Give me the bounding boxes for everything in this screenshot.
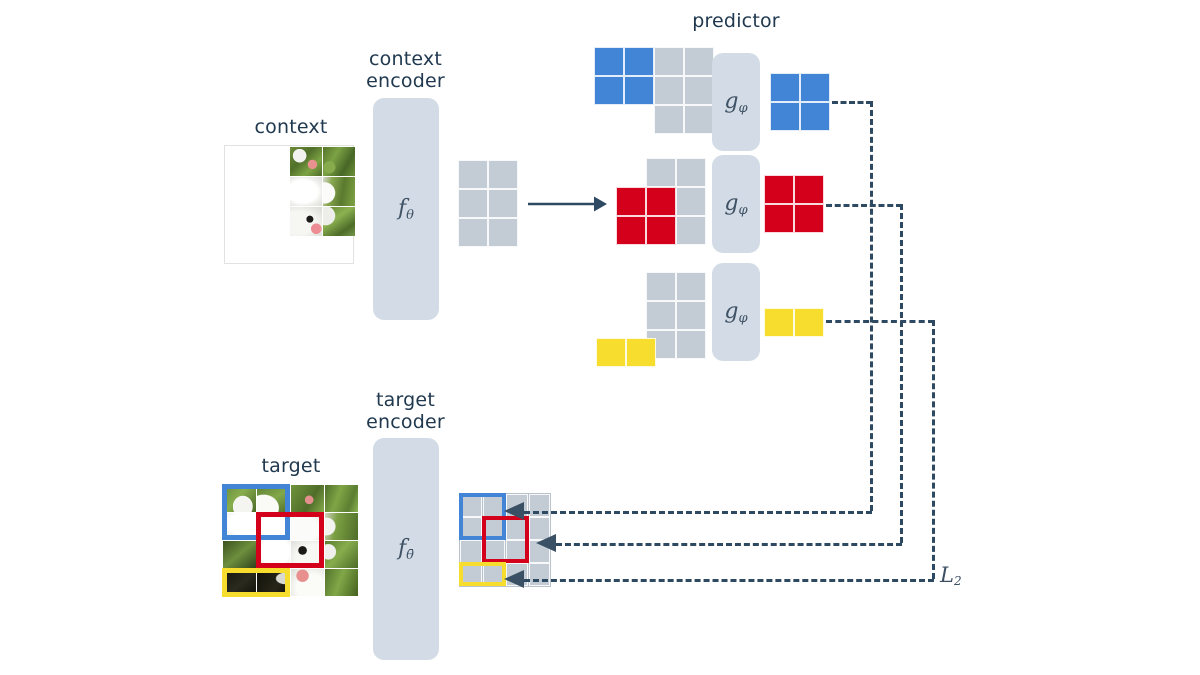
- blue-context-token: [594, 76, 624, 105]
- mask-token: [646, 158, 676, 187]
- context-image: [224, 145, 354, 264]
- target-patch: [223, 541, 256, 568]
- yellow-target-box: [222, 568, 290, 597]
- predictor-red-glyph: gφ: [724, 191, 747, 218]
- mask-token: [646, 272, 676, 301]
- blue-context-token: [624, 76, 654, 105]
- predictor-input-yellow: [596, 272, 706, 362]
- mask-token: [676, 301, 706, 330]
- predicted-yellow-block: [764, 308, 824, 337]
- mask-token: [676, 187, 706, 216]
- predictor-yellow-glyph: gφ: [724, 299, 747, 326]
- red-loss-path-bottom: [556, 543, 902, 546]
- context-token: [488, 189, 518, 218]
- yellow-context-token: [596, 338, 626, 367]
- blue-loss-path-top: [832, 101, 872, 104]
- predictor-blue-glyph: gφ: [724, 89, 747, 116]
- mask-token: [684, 47, 714, 76]
- yellow-context-token: [626, 338, 656, 367]
- red-context-token: [616, 187, 646, 216]
- context-token: [488, 160, 518, 189]
- yellow-loss-arrowhead: [504, 570, 526, 588]
- context-token: [488, 218, 518, 247]
- diagram-canvas: predictor context context encoder target…: [0, 0, 1200, 675]
- predicted-token: [764, 204, 794, 233]
- predicted-token: [800, 73, 830, 102]
- predictor-red[interactable]: gφ: [712, 155, 760, 253]
- loss-subscript: 2: [954, 574, 962, 588]
- context-encoder[interactable]: fθ: [373, 98, 439, 320]
- context-encoder-label: context encoder: [333, 48, 478, 92]
- predictor-yellow[interactable]: gφ: [712, 263, 760, 361]
- predicted-token: [770, 73, 800, 102]
- blue-loss-arrowhead: [504, 502, 526, 520]
- mask-token: [676, 330, 706, 359]
- yellow-loss-path-vertical: [932, 320, 935, 579]
- yellow-loss-path-bottom: [524, 579, 934, 582]
- predictor-input-blue: [594, 47, 714, 137]
- mask-token: [684, 76, 714, 105]
- context-token-grid: [458, 160, 518, 248]
- target-encoder-glyph: fθ̄: [398, 536, 414, 563]
- red-context-token: [646, 216, 676, 245]
- yellow-loss-path-top: [826, 320, 934, 323]
- context-label: context: [211, 116, 371, 138]
- predicted-red-block: [764, 175, 824, 233]
- target-label: target: [211, 455, 371, 477]
- target-token: [529, 563, 550, 586]
- context-patch: [290, 207, 322, 236]
- predicted-token: [770, 102, 800, 131]
- yellow-target-token-box: [459, 562, 506, 586]
- target-patch: [325, 541, 358, 568]
- context-token: [458, 189, 488, 218]
- loss-symbol: L: [940, 563, 954, 587]
- mask-token: [684, 105, 714, 134]
- loss-label: L2: [940, 563, 1000, 588]
- predicted-token: [800, 102, 830, 131]
- blue-loss-path-vertical: [870, 101, 873, 511]
- red-context-token: [616, 216, 646, 245]
- target-patch: [325, 485, 358, 512]
- predicted-token: [794, 175, 824, 204]
- context-patch-grid: [225, 146, 355, 265]
- red-loss-arrowhead: [536, 534, 558, 552]
- blue-context-token: [624, 47, 654, 76]
- predicted-blue-block: [770, 73, 830, 131]
- red-target-box: [256, 512, 324, 568]
- predicted-token: [794, 308, 824, 337]
- predictor-blue[interactable]: gφ: [712, 53, 760, 151]
- predictor-input-red: [616, 158, 706, 248]
- predictor-label: predictor: [636, 10, 836, 32]
- target-token: [460, 540, 482, 563]
- mask-token: [654, 76, 684, 105]
- blue-context-token: [594, 47, 624, 76]
- context-patch: [323, 147, 355, 176]
- context-token: [458, 160, 488, 189]
- mask-token: [654, 105, 684, 134]
- red-loss-path-top: [826, 204, 902, 207]
- mask-token: [676, 216, 706, 245]
- context-patch: [290, 147, 322, 176]
- predicted-token: [794, 204, 824, 233]
- red-context-token: [646, 187, 676, 216]
- target-encoder-label: target encoder: [333, 389, 478, 433]
- predicted-token: [764, 175, 794, 204]
- mask-token: [676, 158, 706, 187]
- blue-loss-path-bottom: [524, 511, 872, 514]
- target-patch: [325, 569, 358, 596]
- mask-token: [654, 47, 684, 76]
- context-token: [458, 218, 488, 247]
- target-encoder[interactable]: fθ̄: [373, 438, 439, 660]
- context-to-predictor-arrow: [528, 192, 608, 216]
- target-patch: [325, 513, 358, 540]
- context-encoder-glyph: fθ: [398, 196, 414, 223]
- target-patch: [291, 569, 324, 596]
- context-patch: [323, 207, 355, 236]
- predicted-token: [764, 308, 794, 337]
- red-loss-path-vertical: [900, 204, 903, 543]
- target-image: [222, 484, 358, 597]
- target-patch: [291, 485, 324, 512]
- context-patch: [323, 177, 355, 206]
- mask-token: [646, 301, 676, 330]
- mask-token: [676, 272, 706, 301]
- red-target-token-box: [482, 516, 529, 563]
- context-patch: [290, 177, 322, 206]
